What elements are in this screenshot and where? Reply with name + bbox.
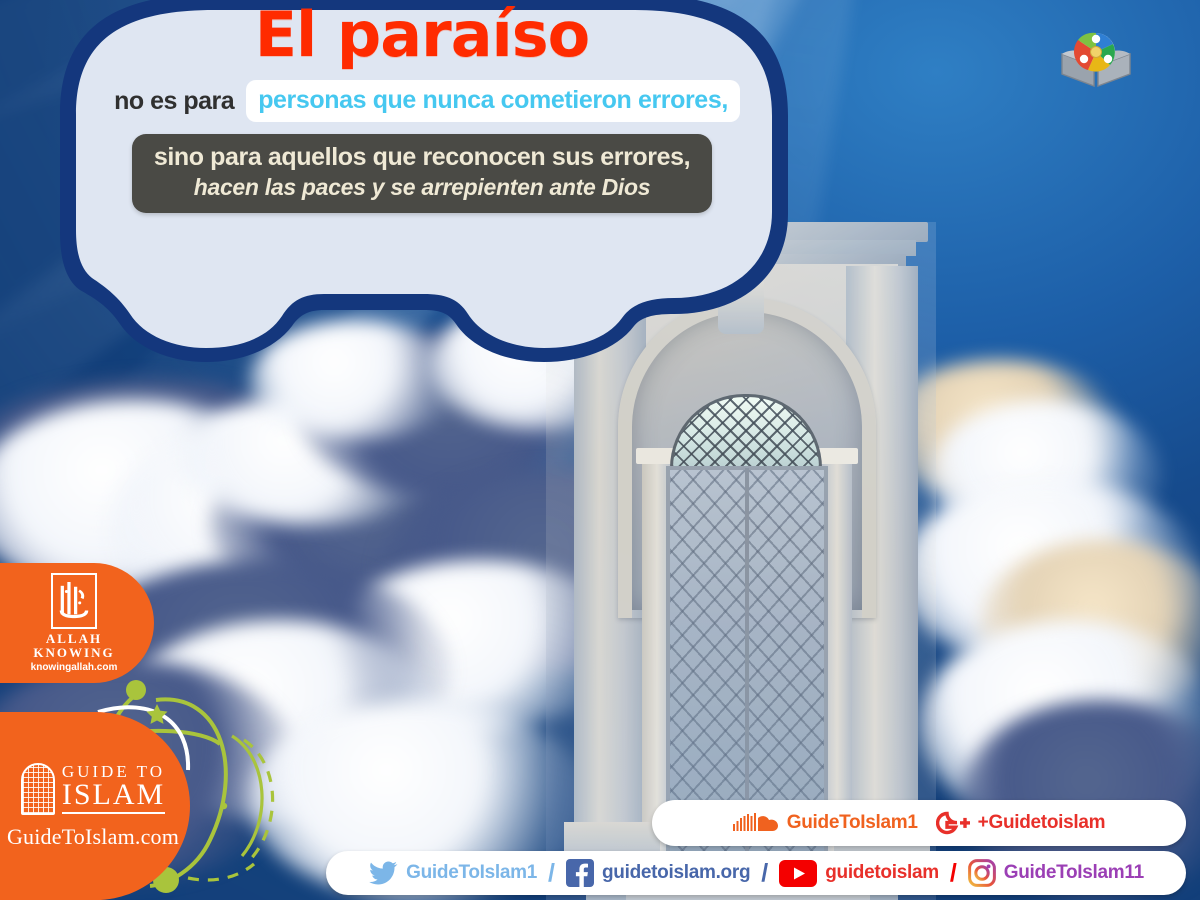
knowing-allah-badge[interactable]: ALLAH KNOWING knowingallah.com — [0, 563, 154, 683]
google-plus-icon — [936, 811, 970, 835]
quote-line2-plain: no es para — [114, 87, 246, 116]
googleplus-label: +Guidetoislam — [978, 812, 1106, 834]
social-link-youtube[interactable]: guidetoislam — [779, 860, 939, 887]
guide-to-islam-wordmark: GUIDE TO ISLAM — [62, 763, 165, 814]
quote-darkbox: sino para aquellos que reconocen sus err… — [132, 134, 712, 213]
separator: / — [761, 859, 768, 888]
quote-line-2: no es para personas que nunca cometieron… — [52, 80, 792, 122]
social-link-soundcloud[interactable]: GuideToIslam1 — [733, 812, 918, 834]
social-link-googleplus[interactable]: +Guidetoislam — [936, 811, 1106, 835]
social-bar-primary: GuideToIslam1 / guidetoislam.org / guide… — [326, 851, 1186, 895]
guide-to-islam-url[interactable]: GuideToIslam.com — [7, 824, 179, 850]
facebook-label: guidetoislam.org — [602, 862, 750, 884]
soundcloud-label: GuideToIslam1 — [787, 812, 918, 834]
separator: / — [950, 859, 957, 888]
knowing-allah-title-line2: KNOWING — [33, 646, 114, 660]
page-title: El paraíso — [52, 4, 792, 66]
youtube-icon — [779, 860, 817, 887]
separator: / — [548, 859, 555, 888]
twitter-label: GuideToIslam1 — [406, 862, 537, 884]
knowing-allah-title-line1: ALLAH — [46, 632, 102, 646]
social-bar-secondary: GuideToIslam1 +Guidetoislam — [652, 800, 1186, 846]
open-book-globe-icon[interactable] — [1056, 28, 1136, 90]
social-link-facebook[interactable]: guidetoislam.org — [566, 859, 750, 887]
allah-calligraphy-icon-svg — [55, 578, 93, 624]
mosque-arch-icon — [21, 763, 55, 815]
quote-darkbox-line1: sino para aquellos que reconocen sus err… — [154, 143, 690, 172]
knowing-allah-url[interactable]: knowingallah.com — [31, 662, 118, 673]
quote-text-block: El paraíso no es para personas que nunca… — [52, 4, 792, 213]
youtube-label: guidetoislam — [825, 862, 939, 884]
allah-calligraphy-icon — [51, 573, 97, 629]
guide-to-islam-title-line2: ISLAM — [62, 780, 165, 814]
soundcloud-icon — [733, 812, 779, 834]
open-book-globe-icon-svg — [1056, 28, 1136, 90]
guide-to-islam-logo-row: GUIDE TO ISLAM — [21, 763, 165, 815]
poster-canvas: El paraíso no es para personas que nunca… — [0, 0, 1200, 900]
social-link-instagram[interactable]: GuideToIslam11 — [968, 859, 1144, 887]
quote-line2-highlight: personas que nunca cometieron errores, — [246, 80, 740, 122]
instagram-label: GuideToIslam11 — [1004, 862, 1144, 884]
quote-darkbox-line2: hacen las paces y se arrepienten ante Di… — [154, 174, 690, 202]
instagram-icon — [968, 859, 996, 887]
quote-speech-bubble: El paraíso no es para personas que nunca… — [24, 0, 824, 364]
guide-to-islam-badge[interactable]: GUIDE TO ISLAM GuideToIslam.com — [0, 712, 190, 900]
facebook-icon — [566, 859, 594, 887]
twitter-icon — [368, 860, 398, 886]
social-link-twitter[interactable]: GuideToIslam1 — [368, 860, 537, 886]
